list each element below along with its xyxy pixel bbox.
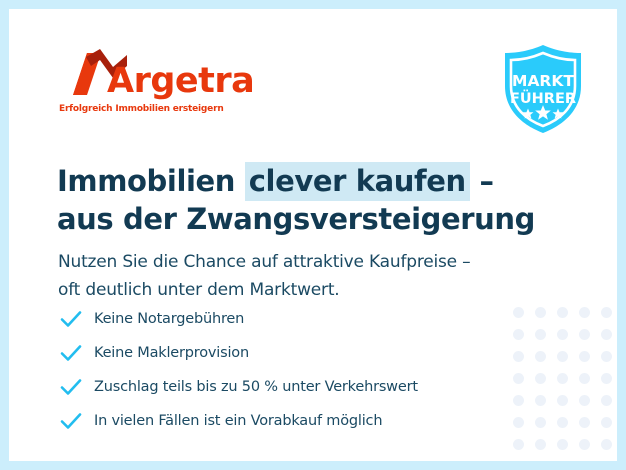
decorative-dot bbox=[573, 323, 595, 345]
list-item: In vielen Fällen ist ein Vorabkauf mögli… bbox=[59, 406, 529, 436]
decorative-dot bbox=[529, 323, 551, 345]
dot bbox=[535, 395, 546, 406]
decorative-dot bbox=[595, 345, 617, 367]
dot bbox=[601, 307, 612, 318]
badge-line-2: FÜHRER bbox=[510, 89, 576, 107]
dot bbox=[557, 439, 568, 450]
dot bbox=[601, 439, 612, 450]
check-icon bbox=[59, 375, 83, 399]
headline-line-1-post: – bbox=[470, 164, 494, 198]
headline: Immobilien clever kaufen – aus der Zwang… bbox=[57, 162, 527, 238]
dot bbox=[579, 373, 590, 384]
logo-wordmark: Argetra bbox=[107, 61, 254, 101]
dot bbox=[557, 329, 568, 340]
dot bbox=[535, 329, 546, 340]
decorative-dot bbox=[529, 301, 551, 323]
check-icon bbox=[59, 307, 83, 331]
dot bbox=[557, 417, 568, 428]
decorative-dot bbox=[595, 301, 617, 323]
check-icon bbox=[59, 341, 83, 365]
dot bbox=[513, 439, 524, 450]
subheadline-line-2: oft deutlich unter dem Marktwert. bbox=[58, 276, 558, 304]
argetra-logo[interactable]: Argetra Erfolgreich Immobilien ersteiger… bbox=[55, 47, 255, 125]
list-item: Keine Notargebühren bbox=[59, 304, 529, 334]
list-item-label: In vielen Fällen ist ein Vorabkauf mögli… bbox=[94, 413, 382, 429]
dot bbox=[579, 329, 590, 340]
headline-line-2: aus der Zwangsversteigerung bbox=[57, 200, 527, 238]
decorative-dot bbox=[595, 433, 617, 455]
banner-card: Argetra Erfolgreich Immobilien ersteiger… bbox=[9, 9, 617, 461]
dot bbox=[601, 351, 612, 362]
decorative-dot bbox=[551, 301, 573, 323]
decorative-dot bbox=[573, 389, 595, 411]
subheadline: Nutzen Sie die Chance auf attraktive Kau… bbox=[58, 248, 558, 304]
dot bbox=[579, 351, 590, 362]
dot bbox=[601, 395, 612, 406]
headline-line-1: Immobilien clever kaufen – bbox=[57, 162, 527, 200]
dot bbox=[557, 395, 568, 406]
dot bbox=[579, 395, 590, 406]
dot bbox=[557, 351, 568, 362]
dot bbox=[557, 373, 568, 384]
badge-line-1: MARKT bbox=[512, 72, 574, 90]
decorative-dot bbox=[573, 411, 595, 433]
dot bbox=[535, 307, 546, 318]
decorative-dot bbox=[529, 367, 551, 389]
decorative-dot bbox=[551, 367, 573, 389]
decorative-dot bbox=[551, 389, 573, 411]
promo-banner: Argetra Erfolgreich Immobilien ersteiger… bbox=[0, 0, 626, 470]
dot bbox=[579, 417, 590, 428]
decorative-dot bbox=[529, 345, 551, 367]
decorative-dot bbox=[573, 433, 595, 455]
decorative-dot bbox=[573, 301, 595, 323]
dot bbox=[557, 307, 568, 318]
decorative-dot bbox=[529, 433, 551, 455]
headline-line-1-pre: Immobilien bbox=[57, 164, 245, 198]
market-leader-badge: MARKT FÜHRER bbox=[497, 42, 589, 136]
dot bbox=[601, 417, 612, 428]
decorative-dot bbox=[551, 411, 573, 433]
check-icon bbox=[59, 409, 83, 433]
list-item: Zuschlag teils bis zu 50 % unter Verkehr… bbox=[59, 372, 529, 402]
decorative-dot bbox=[551, 323, 573, 345]
decorative-dot bbox=[551, 345, 573, 367]
decorative-dot bbox=[573, 345, 595, 367]
decorative-dot bbox=[595, 323, 617, 345]
dot bbox=[579, 439, 590, 450]
dot bbox=[535, 417, 546, 428]
list-item-label: Keine Notargebühren bbox=[94, 311, 244, 327]
decorative-dot bbox=[529, 389, 551, 411]
headline-highlight: clever kaufen bbox=[245, 162, 470, 201]
decorative-dot bbox=[595, 411, 617, 433]
subheadline-line-1: Nutzen Sie die Chance auf attraktive Kau… bbox=[58, 248, 558, 276]
dot bbox=[579, 307, 590, 318]
logo-tagline: Erfolgreich Immobilien ersteigern bbox=[59, 104, 224, 114]
decorative-dot bbox=[529, 411, 551, 433]
list-item-label: Zuschlag teils bis zu 50 % unter Verkehr… bbox=[94, 379, 418, 395]
decorative-dot bbox=[595, 367, 617, 389]
benefits-checklist: Keine Notargebühren Keine Maklerprovisio… bbox=[59, 304, 529, 440]
decorative-dot bbox=[573, 367, 595, 389]
dot bbox=[535, 373, 546, 384]
dot bbox=[601, 373, 612, 384]
dot bbox=[601, 329, 612, 340]
dot bbox=[535, 351, 546, 362]
decorative-dot bbox=[595, 389, 617, 411]
list-item-label: Keine Maklerprovision bbox=[94, 345, 249, 361]
dot bbox=[535, 439, 546, 450]
decorative-dot bbox=[551, 433, 573, 455]
list-item: Keine Maklerprovision bbox=[59, 338, 529, 368]
